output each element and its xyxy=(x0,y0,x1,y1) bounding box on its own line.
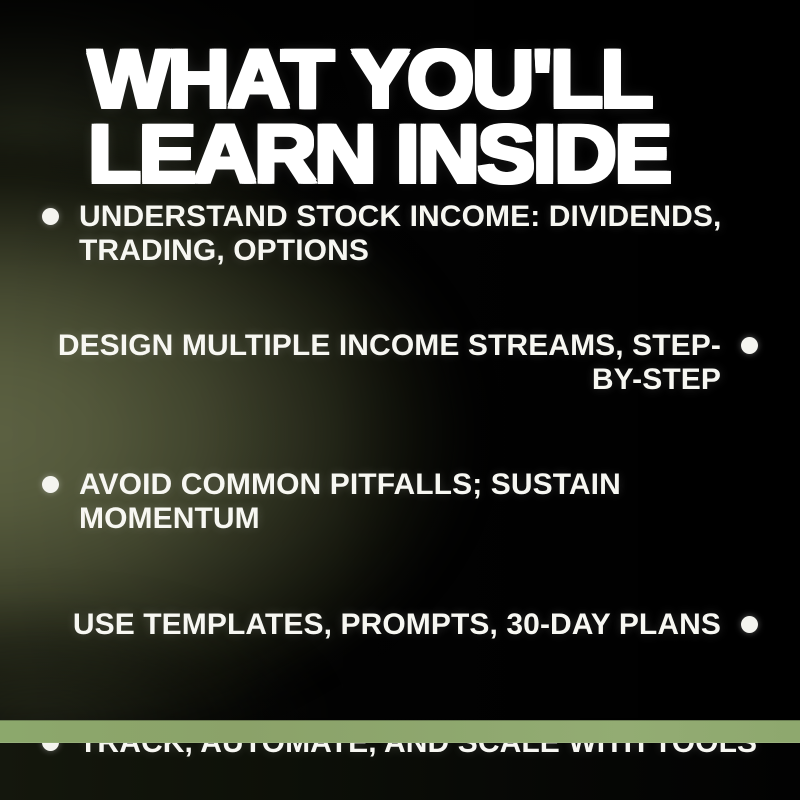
bottom-accent-bar xyxy=(0,720,800,743)
list-item: DESIGN MULTIPLE INCOME STREAMS, STEP-BY-… xyxy=(0,329,800,396)
list-item-label: AVOID COMMON PITFALLS; SUSTAIN MOMENTUM xyxy=(79,468,758,535)
list-item: UNDERSTAND STOCK INCOME: DIVIDENDS, TRAD… xyxy=(0,200,800,267)
list-item-label: UNDERSTAND STOCK INCOME: DIVIDENDS, TRAD… xyxy=(79,200,758,267)
bullet-dot-icon xyxy=(741,616,758,633)
list-item: AVOID COMMON PITFALLS; SUSTAIN MOMENTUM xyxy=(0,468,800,535)
list-item: USE TEMPLATES, PROMPTS, 30-DAY PLANS xyxy=(0,608,800,654)
bullet-dot-icon xyxy=(42,476,59,493)
list-item-label: USE TEMPLATES, PROMPTS, 30-DAY PLANS xyxy=(73,608,721,642)
list-item-label: DESIGN MULTIPLE INCOME STREAMS, STEP-BY-… xyxy=(42,329,721,396)
page-title: WHAT YOU'LL LEARN INSIDE xyxy=(88,46,768,190)
bullet-dot-icon xyxy=(42,208,59,225)
bullet-list: UNDERSTAND STOCK INCOME: DIVIDENDS, TRAD… xyxy=(0,200,800,772)
bullet-dot-icon xyxy=(741,337,758,354)
title-line-2: LEARN INSIDE xyxy=(88,121,800,190)
promo-slide: WHAT YOU'LL LEARN INSIDE UNDERSTAND STOC… xyxy=(0,0,800,800)
title-line-1: WHAT YOU'LL xyxy=(88,46,800,115)
